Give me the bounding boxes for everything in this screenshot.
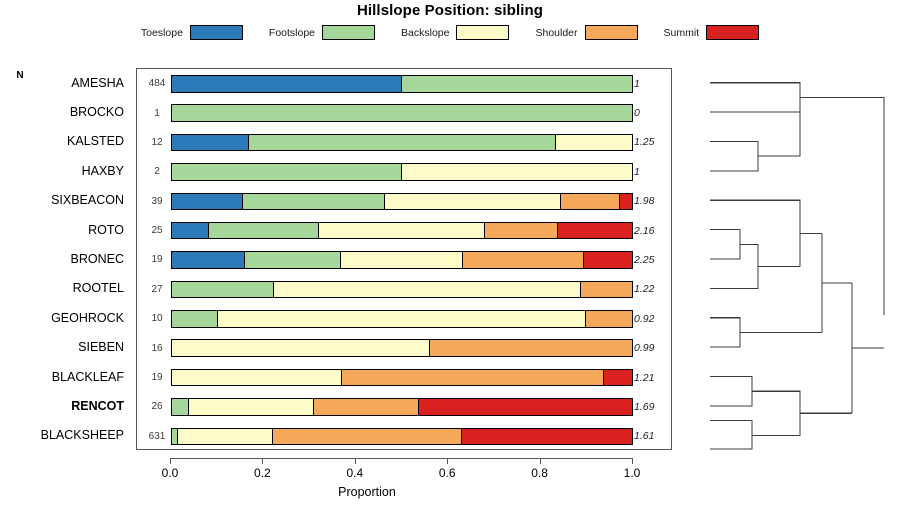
stacked-bar[interactable] <box>171 428 633 446</box>
bar-segment-summit[interactable] <box>419 399 632 415</box>
bar-segment-summit[interactable] <box>462 429 632 445</box>
bar-segment-toeslope[interactable] <box>172 194 243 210</box>
bar-segment-footslope[interactable] <box>172 282 274 298</box>
legend-swatch-icon <box>456 25 509 40</box>
bar-segment-footslope[interactable] <box>209 223 319 239</box>
dendro-node-rotobronec-rootel <box>710 244 758 288</box>
x-axis-line <box>170 458 632 459</box>
bar-segment-backslope[interactable] <box>402 164 632 180</box>
bar-segment-shoulder[interactable] <box>463 252 584 268</box>
n-value: 12 <box>143 128 171 157</box>
bar-segment-footslope[interactable] <box>172 311 218 327</box>
dendro-node-geohrock-sieben <box>710 318 740 347</box>
legend-item-summit[interactable]: Summit <box>664 25 760 40</box>
table-row: 271.22 <box>137 275 673 304</box>
legend-item-toeslope[interactable]: Toeslope <box>141 25 243 40</box>
bar-segment-backslope[interactable] <box>274 282 581 298</box>
table-row: 160.99 <box>137 333 673 362</box>
table-row: 4841 <box>137 69 673 98</box>
x-axis-tick-label: 0.2 <box>242 466 282 480</box>
legend-item-shoulder[interactable]: Shoulder <box>535 25 637 40</box>
n-value: 2 <box>143 157 171 186</box>
category-label-kalsted: KALSTED <box>0 127 124 156</box>
bar-segment-summit[interactable] <box>558 223 632 239</box>
legend-label: Shoulder <box>535 27 577 39</box>
dendro-node-de <box>752 391 800 435</box>
bar-segment-toeslope[interactable] <box>172 223 209 239</box>
h-value: 1 <box>634 69 670 98</box>
bar-segment-footslope[interactable] <box>172 164 402 180</box>
x-axis-tick <box>540 458 541 464</box>
table-row: 121.25 <box>137 128 673 157</box>
bar-segment-footslope[interactable] <box>402 76 632 92</box>
h-value: 0.92 <box>634 304 670 333</box>
bar-segment-toeslope[interactable] <box>172 135 249 151</box>
table-row: 10 <box>137 98 673 127</box>
stacked-bar[interactable] <box>171 339 633 357</box>
n-value: 27 <box>143 275 171 304</box>
x-axis-tick-label: 0.0 <box>150 466 190 480</box>
table-row: 261.69 <box>137 392 673 421</box>
h-value: 0 <box>634 98 670 127</box>
n-value: 39 <box>143 187 171 216</box>
table-row: 391.98 <box>137 187 673 216</box>
stacked-bar[interactable] <box>171 369 633 387</box>
x-axis-tick <box>170 458 171 464</box>
legend: ToeslopeFootslopeBackslopeShoulderSummit <box>0 25 900 40</box>
legend-swatch-icon <box>322 25 375 40</box>
table-row: 192.25 <box>137 245 673 274</box>
stacked-bar[interactable] <box>171 222 633 240</box>
h-value: 1.98 <box>634 187 670 216</box>
dendro-node-roto-bronec <box>710 230 740 259</box>
bar-segment-shoulder[interactable] <box>430 340 632 356</box>
dendro-node-blacksheep-pair <box>710 421 752 449</box>
legend-label: Summit <box>664 27 700 39</box>
x-axis-tick <box>447 458 448 464</box>
bar-segment-shoulder[interactable] <box>314 399 420 415</box>
h-value: 2.16 <box>634 216 670 245</box>
h-value: 1.21 <box>634 363 670 392</box>
n-value: 25 <box>143 216 171 245</box>
bar-segment-shoulder[interactable] <box>342 370 604 386</box>
x-axis-tick-label: 0.4 <box>335 466 375 480</box>
x-axis-tick <box>262 458 263 464</box>
bar-segment-backslope[interactable] <box>172 370 342 386</box>
category-label-blacksheep: BLACKSHEEP <box>0 421 124 450</box>
bar-segment-backslope[interactable] <box>319 223 485 239</box>
h-value: 1.69 <box>634 392 670 421</box>
category-label-blackleaf: BLACKLEAF <box>0 362 124 391</box>
stacked-bar[interactable] <box>171 310 633 328</box>
table-row: 252.16 <box>137 216 673 245</box>
h-value: 1 <box>634 157 670 186</box>
bar-segment-backslope[interactable] <box>218 311 586 327</box>
legend-label: Toeslope <box>141 27 183 39</box>
category-label-brocko: BROCKO <box>0 97 124 126</box>
x-axis-tick-label: 0.8 <box>520 466 560 480</box>
stacked-bar[interactable] <box>171 193 633 211</box>
n-value: 10 <box>143 304 171 333</box>
bar-segment-footslope[interactable] <box>243 194 385 210</box>
dendro-node-blackleaf-rencot <box>710 377 752 406</box>
n-value: 19 <box>143 245 171 274</box>
stacked-bar[interactable] <box>171 398 633 416</box>
plot-panel: 484110121.2521391.98252.16192.25271.2210… <box>136 68 672 450</box>
category-label-sieben: SIEBEN <box>0 332 124 361</box>
category-label-rootel: ROOTEL <box>0 274 124 303</box>
bar-segment-backslope[interactable] <box>385 194 562 210</box>
stacked-bar[interactable] <box>171 104 633 122</box>
n-value: 16 <box>143 333 171 362</box>
x-axis-tick-label: 1.0 <box>612 466 652 480</box>
category-label-sixbeacon: SIXBEACON <box>0 186 124 215</box>
x-axis-tick <box>355 458 356 464</box>
bar-segment-footslope[interactable] <box>245 252 342 268</box>
bar-segment-backslope[interactable] <box>556 135 632 151</box>
h-value: 1.25 <box>634 128 670 157</box>
stacked-bar-rows: 484110121.2521391.98252.16192.25271.2210… <box>137 69 673 451</box>
stacked-bar[interactable] <box>171 281 633 299</box>
category-axis-labels: AMESHABROCKOKALSTEDHAXBYSIXBEACONROTOBRO… <box>0 68 132 450</box>
dendrogram-svg <box>676 68 900 450</box>
category-label-geohrock: GEOHROCK <box>0 303 124 332</box>
bar-segment-shoulder[interactable] <box>581 282 632 298</box>
h-value: 1.22 <box>634 275 670 304</box>
bar-segment-shoulder[interactable] <box>273 429 462 445</box>
table-row: 21 <box>137 157 673 186</box>
bar-segment-footslope[interactable] <box>172 399 189 415</box>
category-label-roto: ROTO <box>0 215 124 244</box>
category-label-rencot: RENCOT <box>0 391 124 420</box>
legend-label: Backslope <box>401 27 449 39</box>
bar-segment-shoulder[interactable] <box>485 223 559 239</box>
category-label-haxby: HAXBY <box>0 156 124 185</box>
legend-swatch-icon <box>190 25 243 40</box>
n-value: 19 <box>143 363 171 392</box>
x-axis-title: Proportion <box>136 485 598 499</box>
table-row: 100.92 <box>137 304 673 333</box>
bar-segment-summit[interactable] <box>584 252 632 268</box>
bar-segment-backslope[interactable] <box>172 340 430 356</box>
chart-root: Hillslope Position: sibling ToeslopeFoot… <box>0 0 900 520</box>
legend-item-footslope[interactable]: Footslope <box>269 25 375 40</box>
dendro-node-amesha-pair <box>710 83 800 156</box>
h-value: 1.61 <box>634 422 670 451</box>
legend-swatch-icon <box>706 25 759 40</box>
bar-segment-backslope[interactable] <box>189 399 313 415</box>
stacked-bar[interactable] <box>171 75 633 93</box>
n-value: 26 <box>143 392 171 421</box>
column-header-n: N <box>6 70 34 81</box>
h-value: 0.99 <box>634 333 670 362</box>
n-value: 484 <box>143 69 171 98</box>
legend-swatch-icon <box>585 25 638 40</box>
x-axis: 0.00.20.40.60.81.0 <box>136 450 672 490</box>
x-axis-tick <box>632 458 633 464</box>
dendro-node-kalsted-haxby <box>710 142 758 171</box>
stacked-bar[interactable] <box>171 163 633 181</box>
x-axis-tick-label: 0.6 <box>427 466 467 480</box>
bar-segment-backslope[interactable] <box>178 429 273 445</box>
bar-segment-shoulder[interactable] <box>586 311 632 327</box>
category-label-bronec: BRONEC <box>0 244 124 273</box>
legend-label: Footslope <box>269 27 315 39</box>
bar-segment-summit[interactable] <box>620 194 632 210</box>
bar-segment-toeslope[interactable] <box>172 76 402 92</box>
bar-segment-toeslope[interactable] <box>172 252 245 268</box>
bar-segment-footslope[interactable] <box>249 135 556 151</box>
stacked-bar[interactable] <box>171 134 633 152</box>
bar-segment-summit[interactable] <box>604 370 632 386</box>
bar-segment-shoulder[interactable] <box>561 194 620 210</box>
stacked-bar[interactable] <box>171 251 633 269</box>
dendrogram <box>676 68 900 450</box>
dendro-node-sixbeacon-grp <box>710 200 800 266</box>
bar-segment-backslope[interactable] <box>341 252 462 268</box>
table-row: 191.21 <box>137 363 673 392</box>
page-title: Hillslope Position: sibling <box>0 2 900 19</box>
table-row: 6311.61 <box>137 422 673 451</box>
h-value: 2.25 <box>634 245 670 274</box>
n-value: 1 <box>143 98 171 127</box>
n-value: 631 <box>143 422 171 451</box>
bar-segment-footslope[interactable] <box>172 105 632 121</box>
legend-item-backslope[interactable]: Backslope <box>401 25 509 40</box>
